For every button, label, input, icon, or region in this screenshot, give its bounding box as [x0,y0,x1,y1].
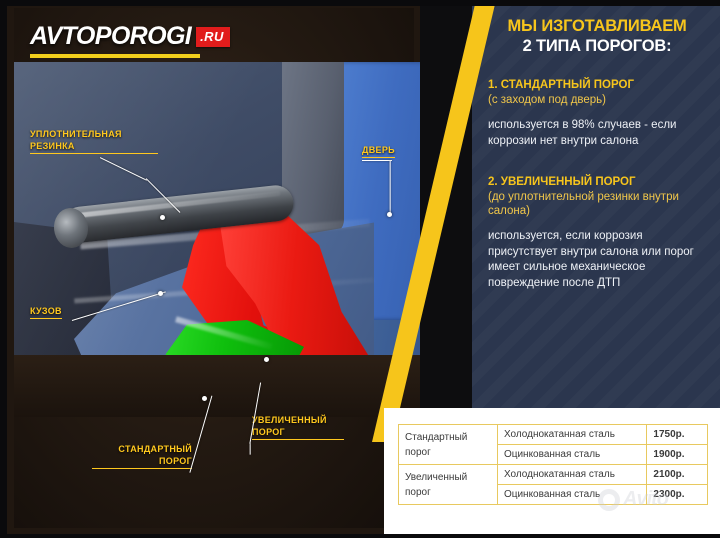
logo-wordmark: AVTOPOROGI [30,22,191,51]
poster-root: УПЛОТНИТЕЛЬНАЯ РЕЗИНКА ДВЕРЬ КУЗОВ СТАНД… [0,0,720,538]
cell-price-2: 1900р. [647,445,708,465]
callout-label-door: ДВЕРЬ [362,144,395,158]
callout-label-enlarged: УВЕЛИЧЕННЫЙ ПОРОГ [252,414,344,440]
section-standard-body: используется в 98% случаев - если корроз… [488,118,706,149]
logo-tld-badge: .RU [196,27,230,47]
body-highlight-1 [80,219,370,250]
price-card: Стандартный порог Холоднокатанная сталь … [384,408,720,538]
cell-price-3: 2100р. [647,465,708,485]
callout-dot-seal [160,215,165,220]
callout-dot-standard [202,396,207,401]
brand-logo[interactable]: AVTOPOROGI .RU [30,22,230,58]
frame-edge-left [0,0,7,538]
callout-label-body: КУЗОВ [30,305,62,319]
cell-steel-1: Холоднокатанная сталь [497,425,646,445]
price-table: Стандартный порог Холоднокатанная сталь … [398,424,708,505]
frame-edge-bottom [0,534,720,538]
section-standard: 1. СТАНДАРТНЫЙ ПОРОГ (с заходом под двер… [488,78,706,149]
frame-edge-top [0,0,720,6]
callout-leader-door-a [362,160,392,161]
section-standard-subtitle: (с заходом под дверь) [488,93,706,107]
callout-dot-body [158,291,163,296]
scene-floor [14,355,420,417]
rubber-seal-cap [52,206,90,249]
rubber-seal-highlight [76,191,280,218]
callout-leader-enlarged-a [249,443,250,455]
rubber-seal-tube [61,184,296,245]
cell-steel-4: Оцинкованная сталь [497,485,646,505]
section-enlarged-body: используется, если коррозия присутствует… [488,229,706,291]
cell-price-4: 2300р. [647,485,708,505]
inner-grey-panel [282,62,344,234]
header-line-1: МЫ ИЗГОТАВЛИВАЕМ [488,16,706,36]
callout-label-standard: СТАНДАРТНЫЙ ПОРОГ [92,443,192,469]
callout-dot-door [387,212,392,217]
standard-sill-highlight [175,316,273,349]
body-highlight-2 [74,278,374,304]
section-enlarged: 2. УВЕЛИЧЕННЫЙ ПОРОГ (до уплотнительной … [488,175,706,291]
logo-underline-bar [30,54,200,58]
table-row: Увеличенный порог Холоднокатанная сталь … [399,465,708,485]
section-enlarged-subtitle: (до уплотнительной резинки внутри салона… [488,190,706,218]
section-standard-title: 1. СТАНДАРТНЫЙ ПОРОГ [488,78,706,93]
cell-steel-2: Оцинкованная сталь [497,445,646,465]
cell-type-enlarged: Увеличенный порог [399,465,498,505]
section-enlarged-title: 2. УВЕЛИЧЕННЫЙ ПОРОГ [488,175,706,190]
callout-leader-door-b [389,161,390,215]
cell-steel-3: Холоднокатанная сталь [497,465,646,485]
callout-dot-enlarged [264,357,269,362]
door-slab-upper [332,62,420,320]
cell-type-standard: Стандартный порог [399,425,498,465]
table-row: Стандартный порог Холоднокатанная сталь … [399,425,708,445]
cell-price-1: 1750р. [647,425,708,445]
diagram-panel: УПЛОТНИТЕЛЬНАЯ РЕЗИНКА ДВЕРЬ КУЗОВ СТАНД… [0,0,420,538]
callout-label-seal: УПЛОТНИТЕЛЬНАЯ РЕЗИНКА [30,128,158,154]
header-line-2: 2 ТИПА ПОРОГОВ: [488,36,706,56]
